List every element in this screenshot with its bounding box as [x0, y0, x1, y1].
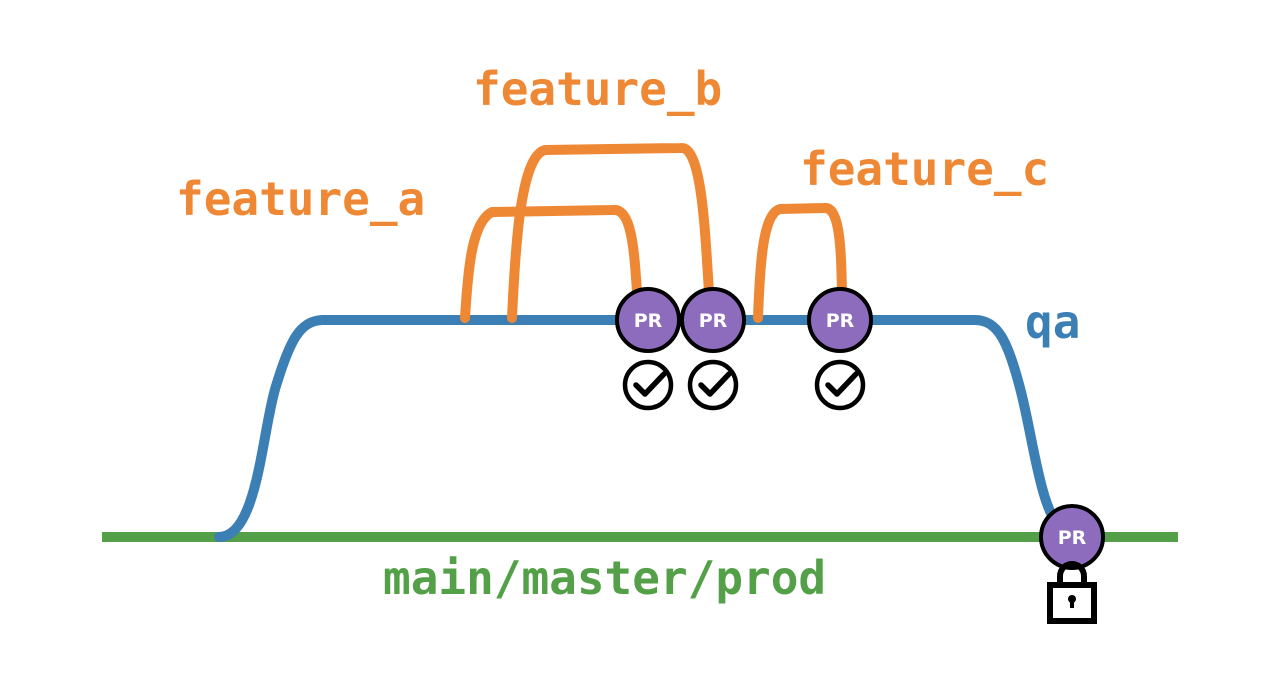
- check-circle-outline: [817, 362, 863, 408]
- check-circle-outline: [690, 362, 736, 408]
- pr-node-label: PR: [634, 310, 663, 332]
- branch-label-main: main/master/prod: [383, 551, 826, 605]
- lock-icon: [1050, 564, 1094, 621]
- pr-node-label: PR: [699, 310, 728, 332]
- branch-label-qa: qa: [1025, 295, 1080, 349]
- check-circle-icon: [817, 362, 863, 408]
- pr-node-feature-a[interactable]: PR: [617, 289, 679, 351]
- pr-node-label: PR: [1058, 527, 1087, 549]
- pr-node-label: PR: [826, 310, 855, 332]
- diagram-canvas: PR PR PR PR: [0, 0, 1288, 678]
- git-branch-diagram: PR PR PR PR: [0, 0, 1288, 678]
- check-circle-icon: [690, 362, 736, 408]
- feature-a-branch-path: [465, 210, 637, 318]
- check-circle-icon: [625, 362, 671, 408]
- check-circle-outline: [625, 362, 671, 408]
- branch-line-qa: [219, 320, 1066, 537]
- branch-line-feature-a: [465, 210, 637, 318]
- branch-label-feature-c: feature_c: [800, 142, 1049, 196]
- pr-node-qa-to-main[interactable]: PR: [1041, 506, 1103, 568]
- branch-line-feature-b: [512, 148, 709, 318]
- pr-node-feature-c[interactable]: PR: [809, 289, 871, 351]
- feature-b-branch-path: [512, 148, 709, 318]
- branch-label-feature-a: feature_a: [176, 172, 425, 226]
- pr-node-feature-b[interactable]: PR: [682, 289, 744, 351]
- branch-label-feature-b: feature_b: [473, 62, 722, 116]
- lock-keyhole-stem: [1070, 599, 1074, 608]
- qa-branch-path: [219, 320, 1066, 537]
